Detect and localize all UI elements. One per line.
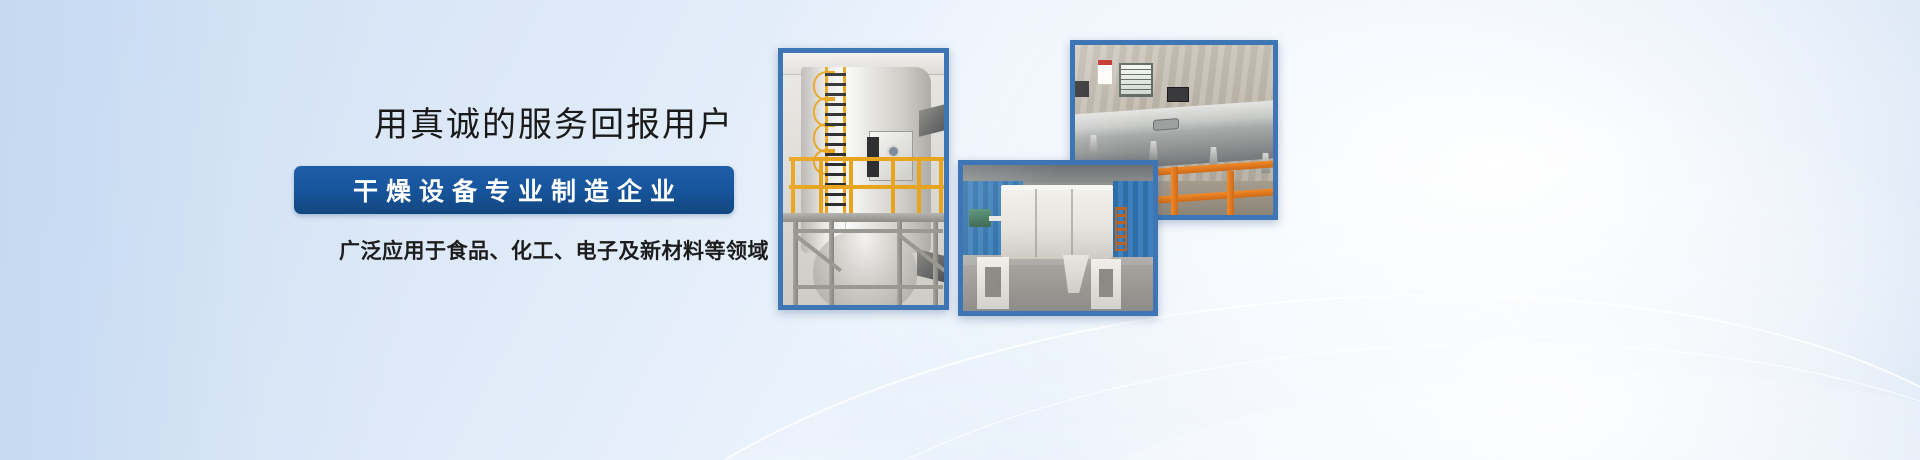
stand-cutout-right	[1099, 269, 1113, 297]
dryer-inspection-hatch	[1153, 118, 1179, 131]
control-box	[1167, 87, 1189, 102]
handrail-post-6	[939, 161, 943, 215]
wall-notice-sign-header	[1098, 60, 1112, 65]
ladder-rung	[825, 193, 846, 196]
mixer-vessel-rib-1	[1035, 189, 1037, 257]
ladder-rung	[825, 123, 846, 126]
photo-spray-drying-tower	[778, 48, 949, 310]
tower-frame-brace-lower	[793, 285, 943, 289]
support-frame-post-3	[1227, 171, 1234, 219]
mixer-drive-motor	[969, 209, 991, 227]
support-frame-post-4	[1273, 175, 1278, 220]
mixer-vessel-body	[1001, 187, 1113, 259]
ladder-rung	[825, 173, 846, 176]
handrail-post-2	[819, 157, 823, 215]
service-platform-deck	[783, 213, 944, 222]
handrail-post-5	[917, 157, 921, 215]
banner-badge-label: 干燥设备专业制造企业	[345, 172, 683, 208]
mixer-vessel-rib-2	[1071, 189, 1073, 257]
spray-tower-scene	[783, 53, 944, 305]
window-grid	[1121, 65, 1151, 95]
wooden-ladder	[1115, 207, 1127, 251]
mixer-vessel-top-lip	[1001, 185, 1113, 190]
banner-badge: 干燥设备专业制造企业	[294, 166, 734, 214]
wall-dark-panel	[1075, 81, 1089, 97]
tower-frame-brace-upper	[793, 229, 943, 233]
support-frame-post-2	[1171, 167, 1178, 217]
hero-banner: 用真诚的服务回报用户 干燥设备专业制造企业 广泛应用于食品、化工、电子及新材料等…	[0, 0, 1920, 460]
photo-ribbon-mixer	[958, 160, 1158, 316]
ladder-rung	[825, 163, 846, 166]
ribbon-mixer-scene	[963, 165, 1153, 311]
ladder-rung	[825, 93, 846, 96]
factory-window	[1119, 63, 1153, 97]
handrail-post-1	[791, 157, 795, 215]
ladder-rung	[825, 73, 846, 76]
handrail-post-4	[891, 157, 895, 215]
banner-headline: 用真诚的服务回报用户	[294, 104, 814, 147]
ladder-rung	[825, 133, 846, 136]
ladder-rung	[825, 103, 846, 106]
stand-cutout-left	[985, 267, 1001, 297]
banner-subline: 广泛应用于食品、化工、电子及新材料等领域	[294, 235, 814, 265]
handrail-post-3	[849, 157, 853, 215]
ladder-rung	[825, 153, 846, 156]
mixer-drive-shaft	[989, 216, 1011, 221]
ladder-rung	[825, 113, 846, 116]
ladder-rung	[825, 143, 846, 146]
ladder-rung	[825, 83, 846, 86]
ladder-rung	[825, 203, 846, 206]
banner-text-block: 用真诚的服务回报用户 干燥设备专业制造企业 广泛应用于食品、化工、电子及新材料等…	[294, 104, 814, 265]
